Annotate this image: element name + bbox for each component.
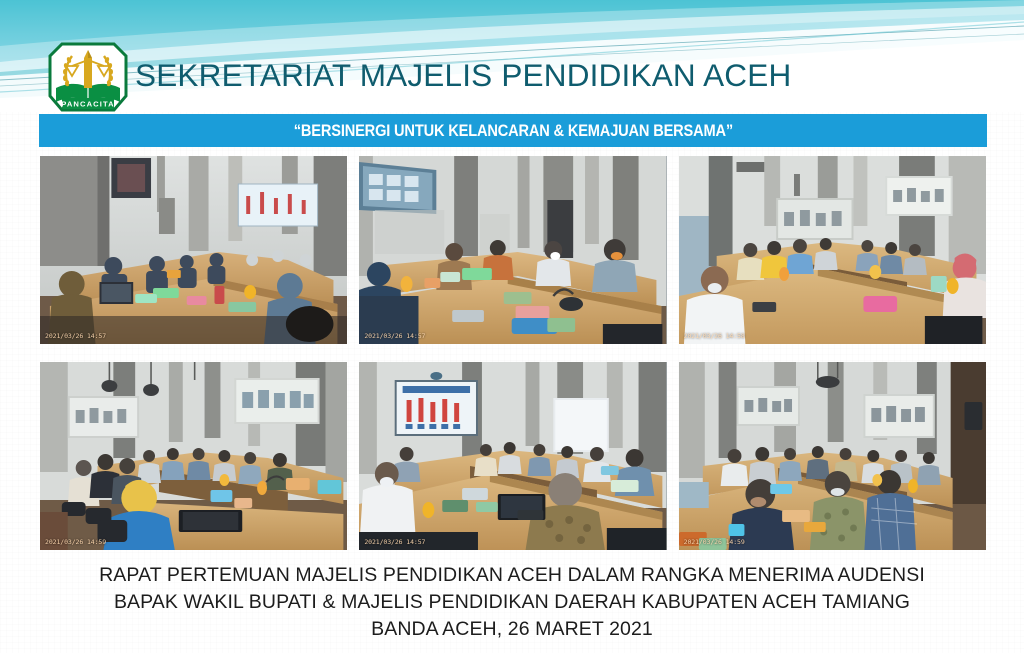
- gallery-photo[interactable]: 2021/03/26 14:59: [679, 362, 986, 550]
- photo-timestamp: 2021/03/26 14:58: [684, 332, 745, 340]
- photo-timestamp: 2021/03/26 14:57: [364, 538, 425, 546]
- caption-line-3: BANDA ACEH, 26 MARET 2021: [0, 616, 1024, 643]
- slide-root: PANCACITA SEKRETARIAT MAJELIS PENDIDIKAN…: [0, 0, 1024, 653]
- motto-text: “BERSINERGI UNTUK KELANCARAN & KEMAJUAN …: [293, 121, 732, 141]
- gallery-photo[interactable]: 2021/03/26 14:57: [40, 156, 347, 344]
- photo-timestamp: 2021/03/26 14:59: [45, 538, 106, 546]
- gallery-photo[interactable]: 2021/03/26 14:58: [679, 156, 986, 344]
- caption-line-2: BAPAK WAKIL BUPATI & MAJELIS PENDIDIKAN …: [0, 589, 1024, 616]
- event-caption: RAPAT PERTEMUAN MAJELIS PENDIDIKAN ACEH …: [0, 562, 1024, 643]
- photo-timestamp: 2021/03/26 14:57: [364, 332, 425, 340]
- photo-gallery-grid: 2021/03/26 14:57: [40, 156, 986, 554]
- photo-timestamp: 2021/03/26 14:59: [684, 538, 745, 546]
- gallery-photo[interactable]: 2021/03/26 14:59: [40, 362, 347, 550]
- gallery-photo[interactable]: 2021/03/26 14:57: [359, 156, 666, 344]
- gallery-photo[interactable]: 2021/03/26 14:57: [359, 362, 666, 550]
- caption-line-1: RAPAT PERTEMUAN MAJELIS PENDIDIKAN ACEH …: [0, 562, 1024, 589]
- pancacita-logo-icon: PANCACITA: [42, 38, 134, 116]
- motto-banner: “BERSINERGI UNTUK KELANCARAN & KEMAJUAN …: [39, 114, 987, 147]
- photo-timestamp: 2021/03/26 14:57: [45, 332, 106, 340]
- page-title: SEKRETARIAT MAJELIS PENDIDIKAN ACEH: [135, 57, 995, 94]
- logo-wordmark: PANCACITA: [61, 99, 115, 108]
- header-wave-decoration: [0, 0, 1024, 112]
